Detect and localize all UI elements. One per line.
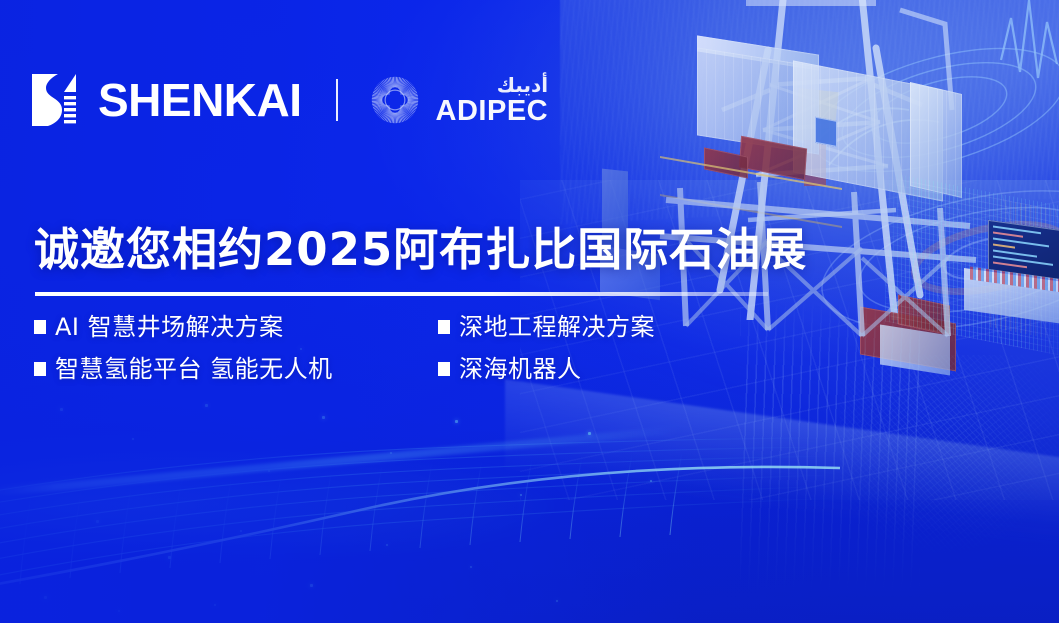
feature-row: 智慧氢能平台 氢能无人机 深海机器人	[34, 357, 754, 399]
bullet-square-icon	[34, 320, 46, 334]
shenkai-logo-mark	[28, 72, 84, 128]
banner-content: SHENKAI أديبك ADIPEC 诚邀您相约2	[0, 0, 1059, 623]
feature-item: 深地工程解决方案	[438, 315, 655, 339]
feature-label: 深地工程解决方案	[459, 315, 655, 339]
feature-row: AI 智慧井场解决方案 深地工程解决方案	[34, 315, 754, 357]
adipec-logo: أديبك ADIPEC	[366, 71, 549, 129]
logo-separator	[336, 79, 338, 121]
feature-list: AI 智慧井场解决方案 深地工程解决方案 智慧氢能平台 氢能无人机 深海机器人	[34, 315, 754, 399]
adipec-text-block: أديبك ADIPEC	[436, 75, 549, 126]
logo-row: SHENKAI أديبك ADIPEC	[28, 66, 548, 134]
bullet-square-icon	[438, 362, 450, 376]
feature-label: 深海机器人	[459, 357, 582, 381]
feature-item: 智慧氢能平台 氢能无人机	[34, 357, 438, 381]
feature-label: AI 智慧井场解决方案	[55, 315, 284, 339]
feature-item: 深海机器人	[438, 357, 582, 381]
shenkai-wordmark: SHENKAI	[98, 77, 302, 123]
headline-divider	[35, 292, 768, 296]
feature-item: AI 智慧井场解决方案	[34, 315, 438, 339]
page-title: 诚邀您相约2025阿布扎比国际石油展	[34, 224, 807, 276]
adipec-latin-name: ADIPEC	[436, 97, 549, 126]
bullet-square-icon	[438, 320, 450, 334]
promo-banner: SHENKAI أديبك ADIPEC 诚邀您相约2	[0, 0, 1059, 623]
adipec-logo-mark	[366, 71, 424, 129]
bullet-square-icon	[34, 362, 46, 376]
feature-label: 智慧氢能平台 氢能无人机	[55, 357, 333, 381]
adipec-arabic-name: أديبك	[436, 75, 549, 95]
